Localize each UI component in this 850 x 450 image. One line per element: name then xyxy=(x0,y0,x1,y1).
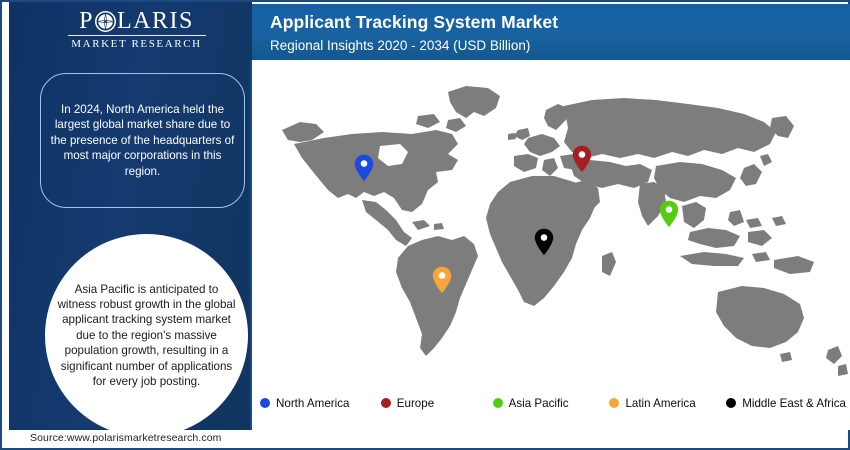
legend-item-north-america[interactable]: North America xyxy=(260,397,381,410)
map-pin-icon xyxy=(354,154,374,182)
map-pin-latin-america[interactable] xyxy=(432,266,452,294)
map-legend: North America Europe Asia Pacific Latin … xyxy=(260,393,846,413)
page-title: Applicant Tracking System Market xyxy=(270,11,850,33)
callout-north-america-insight: In 2024, North America held the largest … xyxy=(40,73,245,208)
map-pin-europe[interactable] xyxy=(572,145,592,173)
source-attribution: Source:www.polarismarketresearch.com xyxy=(30,432,226,444)
logo-letter-p: P xyxy=(79,8,94,34)
callout-text: Asia Pacific is anticipated to witness r… xyxy=(57,282,236,390)
logo-wordmark: P LARIS xyxy=(64,8,209,34)
legend-label: Europe xyxy=(397,397,434,410)
map-landmasses xyxy=(282,86,848,376)
map-pin-icon xyxy=(534,228,554,256)
legend-dot-asia-pacific xyxy=(493,398,503,408)
callout-asia-pacific-insight: Asia Pacific is anticipated to witness r… xyxy=(45,234,248,430)
logo-tagline: MARKET RESEARCH xyxy=(64,38,209,50)
sidebar-panel: P LARIS MARKET RESEARCH In 2024, North A… xyxy=(9,2,252,430)
legend-label: Latin America xyxy=(625,397,695,410)
callout-text: In 2024, North America held the largest … xyxy=(50,102,235,180)
map-pin-north-america[interactable] xyxy=(354,154,374,182)
infographic-frame: P LARIS MARKET RESEARCH In 2024, North A… xyxy=(0,0,850,450)
legend-label: Middle East & Africa xyxy=(742,397,846,410)
map-pin-asia-pacific[interactable] xyxy=(659,200,679,228)
legend-dot-middle-east-africa xyxy=(726,398,736,408)
map-pin-icon xyxy=(659,200,679,228)
legend-dot-latin-america xyxy=(609,398,619,408)
logo-divider xyxy=(68,35,206,36)
compass-star-icon xyxy=(95,11,116,32)
legend-item-asia-pacific[interactable]: Asia Pacific xyxy=(493,397,610,410)
map-pin-icon xyxy=(572,145,592,173)
legend-item-middle-east-africa[interactable]: Middle East & Africa xyxy=(726,397,846,410)
legend-item-europe[interactable]: Europe xyxy=(381,397,493,410)
world-map-panel xyxy=(250,60,850,430)
legend-item-latin-america[interactable]: Latin America xyxy=(609,397,726,410)
legend-dot-north-america xyxy=(260,398,270,408)
legend-label: Asia Pacific xyxy=(509,397,569,410)
map-pin-middle-east-africa[interactable] xyxy=(534,228,554,256)
page-subtitle: Regional Insights 2020 - 2034 (USD Billi… xyxy=(270,36,850,55)
map-pin-icon xyxy=(432,266,452,294)
legend-dot-europe xyxy=(381,398,391,408)
logo-letters-laris: LARIS xyxy=(117,8,194,34)
header-banner: Applicant Tracking System Market Regiona… xyxy=(252,4,850,60)
polaris-logo: P LARIS MARKET RESEARCH xyxy=(64,8,209,54)
legend-label: North America xyxy=(276,397,349,410)
compass-star-svg xyxy=(95,11,116,32)
